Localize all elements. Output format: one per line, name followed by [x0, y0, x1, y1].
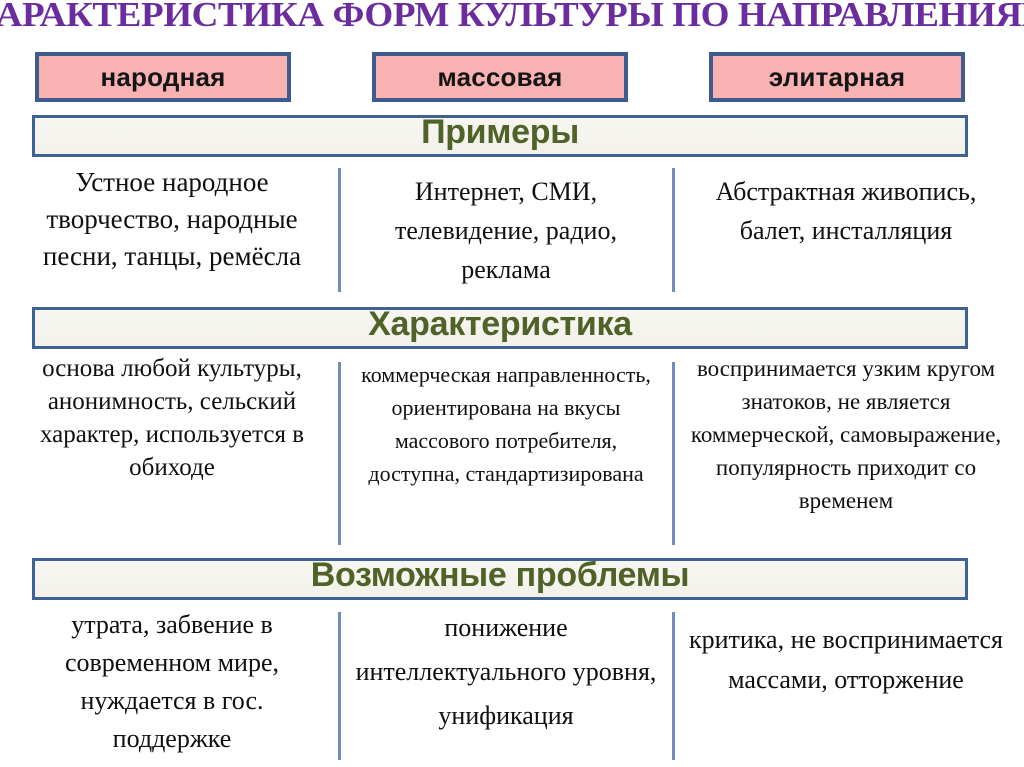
cell-text: Абстрактная живопись, балет, инсталляция: [686, 164, 1006, 250]
cell-text: воспринимается узким кругом знатоков, не…: [686, 352, 1006, 517]
column-divider: [672, 168, 675, 292]
column-header-label: народная: [100, 64, 225, 90]
column-divider: [338, 168, 341, 292]
section-body-harakteristika: основа любой культуры, анонимность, сель…: [0, 352, 1024, 552]
column-divider: [672, 362, 675, 545]
section-body-primery: Устное народное творчество, народные пес…: [0, 164, 1024, 304]
cell-text: коммерческая направленность, ориентирова…: [352, 352, 660, 490]
column-headers: народная массовая элитарная: [0, 52, 1024, 104]
section-bar-label: Характеристика: [35, 303, 965, 345]
cell-problemy-narodnaya: утрата, забвение в современном мире, нуж…: [22, 606, 322, 758]
cell-primery-massovaya: Интернет, СМИ, телевидение, радио, рекла…: [352, 164, 660, 289]
column-header-narodnaya[interactable]: народная: [35, 52, 291, 102]
page-title: ХАРАКТЕРИСТИКА ФОРМ КУЛЬТУРЫ ПО НАПРАВЛЕ…: [0, 0, 1024, 36]
cell-text: Интернет, СМИ, телевидение, радио, рекла…: [352, 164, 660, 289]
cell-text: утрата, забвение в современном мире, нуж…: [22, 606, 322, 758]
column-header-label: массовая: [437, 64, 562, 90]
section-bar-primery[interactable]: Примеры: [32, 115, 968, 157]
section-body-vozmozhnye-problemy: утрата, забвение в современном мире, нуж…: [0, 606, 1024, 767]
section-bar-label: Возможные проблемы: [35, 554, 965, 596]
cell-harakteristika-elitarnaya: воспринимается узким кругом знатоков, не…: [686, 352, 1006, 517]
column-header-massovaya[interactable]: массовая: [372, 52, 628, 102]
cell-text: понижение интеллектуального уровня, униф…: [352, 606, 660, 738]
column-divider: [338, 362, 341, 545]
column-divider: [338, 612, 341, 760]
cell-text: Устное народное творчество, народные пес…: [22, 164, 322, 275]
section-bar-harakteristika[interactable]: Характеристика: [32, 307, 968, 349]
cell-text: основа любой культуры, анонимность, сель…: [22, 352, 322, 484]
cell-primery-narodnaya: Устное народное творчество, народные пес…: [22, 164, 322, 275]
column-divider: [672, 612, 675, 760]
cell-primery-elitarnaya: Абстрактная живопись, балет, инсталляция: [686, 164, 1006, 250]
cell-text: критика, не воспринимается массами, отто…: [686, 606, 1006, 700]
section-bar-vozmozhnye-problemy[interactable]: Возможные проблемы: [32, 558, 968, 600]
cell-harakteristika-narodnaya: основа любой культуры, анонимность, сель…: [22, 352, 322, 484]
cell-problemy-elitarnaya: критика, не воспринимается массами, отто…: [686, 606, 1006, 700]
cell-harakteristika-massovaya: коммерческая направленность, ориентирова…: [352, 352, 660, 490]
column-header-elitarnaya[interactable]: элитарная: [709, 52, 965, 102]
section-bar-label: Примеры: [35, 111, 965, 153]
cell-problemy-massovaya: понижение интеллектуального уровня, униф…: [352, 606, 660, 738]
column-header-label: элитарная: [769, 64, 905, 90]
